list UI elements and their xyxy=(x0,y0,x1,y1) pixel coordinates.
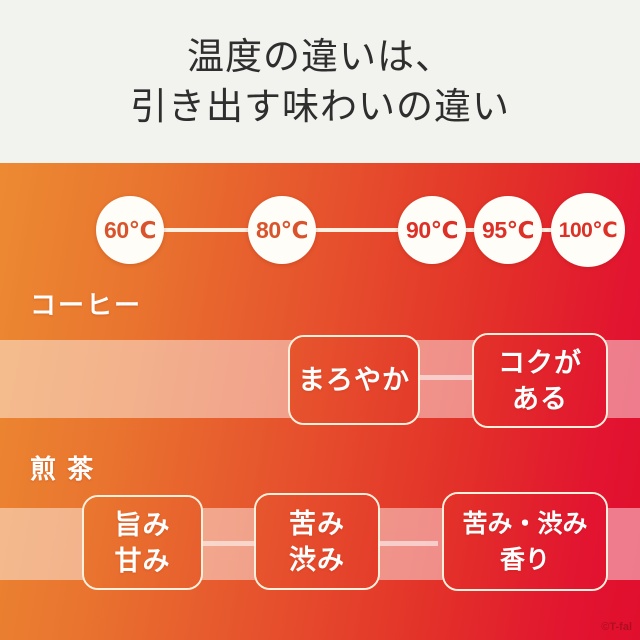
flavour-box-sencha-umami[interactable]: 旨み 甘み xyxy=(82,495,203,590)
temp-node-80[interactable]: 80℃ xyxy=(248,196,316,264)
gradient-panel: 60℃ 80℃ 90℃ 95℃ 100℃ コーヒー まろやか xyxy=(0,163,640,640)
flavour-box-sencha-umami-line-1: 旨み xyxy=(115,507,171,543)
temp-node-60[interactable]: 60℃ xyxy=(96,196,164,264)
flavour-box-sencha-aroma[interactable]: 苦み・渋み 香り xyxy=(442,492,608,591)
temp-node-label-90: 90℃ xyxy=(406,217,458,244)
temperature-scale: 60℃ 80℃ 90℃ 95℃ 100℃ xyxy=(0,163,640,273)
flavour-box-sencha-bitter[interactable]: 苦み 渋み xyxy=(254,493,380,590)
flavour-box-sencha-umami-line-2: 甘み xyxy=(115,543,171,579)
flavour-box-coffee-rich[interactable]: コクが ある xyxy=(472,333,608,428)
temp-node-label-100: 100℃ xyxy=(559,218,617,243)
flavour-box-sencha-bitter-line-2: 渋み xyxy=(289,542,345,578)
temp-node-label-95: 95℃ xyxy=(482,217,534,244)
temp-node-90[interactable]: 90℃ xyxy=(398,196,466,264)
temp-connector-60-80 xyxy=(160,228,252,232)
temp-node-100[interactable]: 100℃ xyxy=(551,193,625,267)
row-label-sencha: 煎 茶 xyxy=(30,449,95,486)
temp-node-95[interactable]: 95℃ xyxy=(474,196,542,264)
flavour-box-coffee-rich-line-2: ある xyxy=(512,381,568,417)
page-title-line-2: 引き出す味わいの違い xyxy=(130,82,510,132)
row-label-coffee: コーヒー xyxy=(30,285,142,322)
flavour-box-sencha-bitter-line-1: 苦み xyxy=(289,506,345,542)
temp-node-label-60: 60℃ xyxy=(104,217,156,244)
flavour-box-coffee-mellow-line-1: まろやか xyxy=(298,362,410,398)
temp-node-label-80: 80℃ xyxy=(256,217,308,244)
flavour-box-coffee-rich-line-1: コクが xyxy=(498,345,582,381)
flavour-box-sencha-aroma-line-1: 苦み・渋み xyxy=(462,506,587,542)
flavour-box-sencha-aroma-line-2: 香り xyxy=(500,542,550,578)
infographic-page: 温度の違いは、 引き出す味わいの違い 60℃ 80℃ 90℃ 95℃ 100 xyxy=(0,0,640,640)
sencha-connector-1 xyxy=(198,541,258,546)
copyright-watermark: ©T-fal xyxy=(601,621,632,633)
sencha-connector-2 xyxy=(376,541,438,546)
page-title-line-1: 温度の違いは、 xyxy=(187,32,453,82)
temp-connector-80-90 xyxy=(312,228,402,232)
coffee-connector xyxy=(416,375,476,380)
flavour-box-coffee-mellow[interactable]: まろやか xyxy=(288,335,420,425)
title-block: 温度の違いは、 引き出す味わいの違い xyxy=(0,0,640,163)
